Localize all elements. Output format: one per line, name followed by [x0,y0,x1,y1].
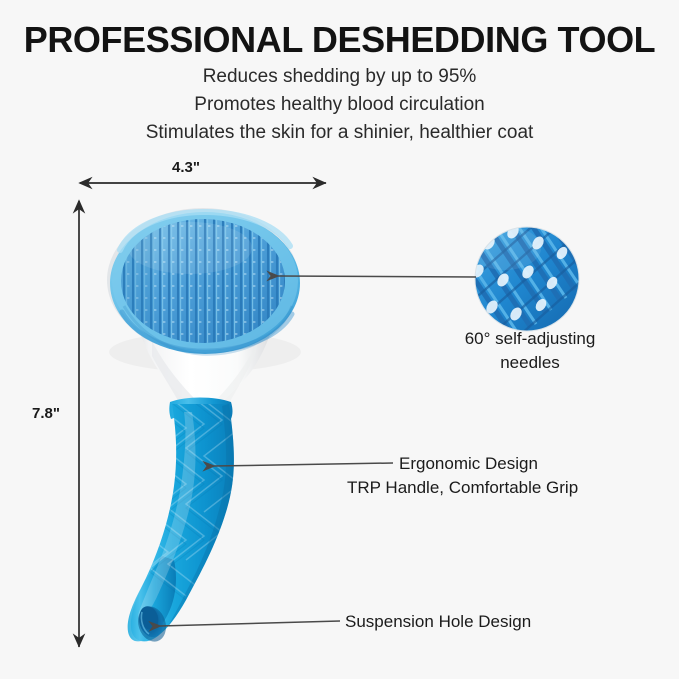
infographic-canvas: PROFESSIONAL DESHEDDING TOOL Reduces she… [0,0,679,679]
suspension-leader-line [160,621,340,626]
callout-needles: 60° self-adjusting needles [430,327,630,375]
callout-suspension: Suspension Hole Design [345,610,531,634]
needles-leader-line [278,276,476,277]
callout-ergonomic-line2: TRP Handle, Comfortable Grip [347,476,669,500]
ergonomic-leader-line [214,463,393,466]
callout-needles-line1: 60° self-adjusting [465,329,596,348]
callout-ergonomic: Ergonomic Design TRP Handle, Comfortable… [399,452,669,500]
height-dimension-label: 7.8" [32,405,60,422]
width-dimension-label: 4.3" [172,159,200,176]
callout-needles-line2: needles [430,351,630,375]
brush-handle [128,392,240,645]
callout-ergonomic-line1: Ergonomic Design [399,454,538,473]
brush-head-pad [107,208,300,354]
